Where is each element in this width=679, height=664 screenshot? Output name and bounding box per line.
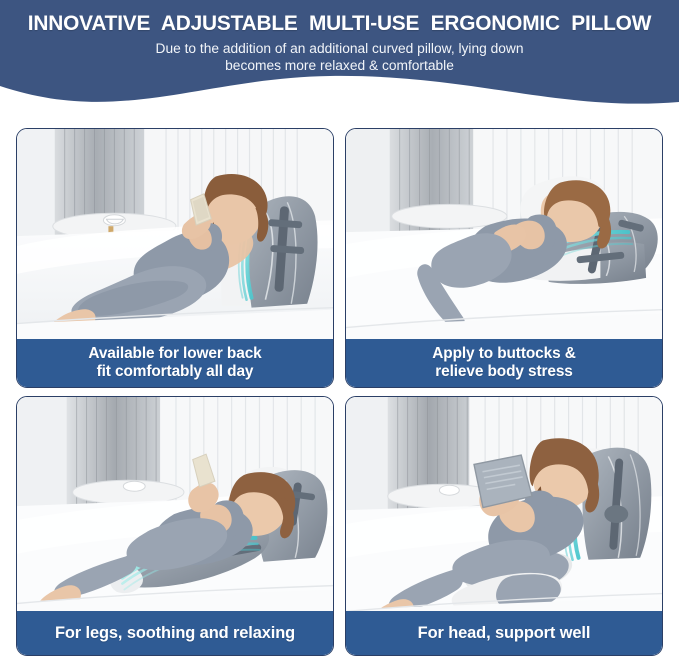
- panel-buttocks[interactable]: Apply to buttocks & relieve body stress: [345, 128, 663, 388]
- caption-line-1: For head, support well: [412, 624, 597, 642]
- header-wave-divider: [0, 72, 679, 118]
- caption-buttocks: Apply to buttocks & relieve body stress: [346, 339, 662, 387]
- header-banner: INNOVATIVE ADJUSTABLE MULTI-USE ERGONOMI…: [0, 0, 679, 118]
- panel-head[interactable]: For head, support well: [345, 396, 663, 656]
- page-title: INNOVATIVE ADJUSTABLE MULTI-USE ERGONOMI…: [10, 11, 669, 36]
- subtitle-line-1: Due to the addition of an additional cur…: [10, 41, 669, 58]
- use-case-panel-grid: Available for lower back fit comfortably…: [16, 128, 663, 656]
- product-infographic: INNOVATIVE ADJUSTABLE MULTI-USE ERGONOMI…: [0, 0, 679, 664]
- caption-line-1: Available for lower back: [82, 345, 267, 363]
- caption-line-2: relieve body stress: [426, 363, 581, 381]
- caption-legs: For legs, soothing and relaxing: [17, 611, 333, 655]
- caption-line-1: For legs, soothing and relaxing: [49, 624, 301, 642]
- header-subtitle: Due to the addition of an additional cur…: [10, 41, 669, 75]
- caption-lower-back: Available for lower back fit comfortably…: [17, 339, 333, 387]
- subtitle-line-2: becomes more relaxed & comfortable: [10, 58, 669, 75]
- caption-line-1: Apply to buttocks &: [426, 345, 581, 363]
- header-text-block: INNOVATIVE ADJUSTABLE MULTI-USE ERGONOMI…: [0, 0, 679, 75]
- caption-head: For head, support well: [346, 611, 662, 655]
- panel-legs[interactable]: For legs, soothing and relaxing: [16, 396, 334, 656]
- caption-line-2: fit comfortably all day: [82, 363, 267, 381]
- panel-lower-back[interactable]: Available for lower back fit comfortably…: [16, 128, 334, 388]
